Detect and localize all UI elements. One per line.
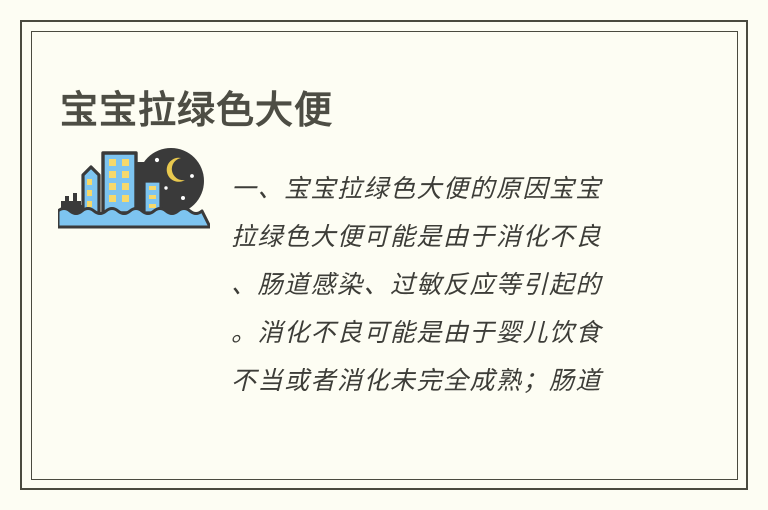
article-page: 宝宝拉绿色大便 [0, 0, 768, 510]
night-city-skyline-icon [58, 143, 210, 229]
article-body: 一、宝宝拉绿色大便的原因宝宝 拉绿色大便可能是由于消化不良 、肠道感染、过敏反应… [231, 166, 651, 406]
body-line: 。消化不良可能是由于婴儿饮食 [231, 310, 651, 358]
body-line: 不当或者消化未完全成熟；肠道 [231, 358, 651, 406]
body-line: 拉绿色大便可能是由于消化不良 [231, 214, 651, 262]
body-line: 一、宝宝拉绿色大便的原因宝宝 [231, 166, 651, 214]
page-title: 宝宝拉绿色大便 [60, 88, 333, 134]
body-line: 、肠道感染、过敏反应等引起的 [231, 262, 651, 310]
